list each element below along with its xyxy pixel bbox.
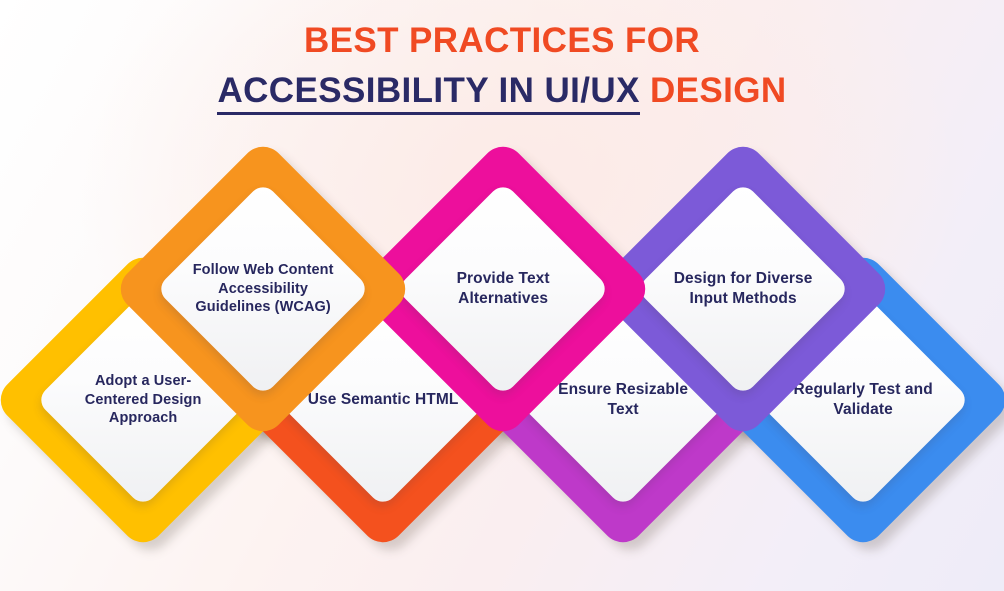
title-line-one: BEST PRACTICES FOR <box>0 22 1004 60</box>
diamond-1-adopt-a-user-centered-design-approach-label: Adopt a User-Centered Design Approach <box>67 372 219 428</box>
infographic-canvas: BEST PRACTICES FOR ACCESSIBILITY IN UI/U… <box>0 0 1004 591</box>
diamond-6-design-for-diverse-input-methods-label: Design for Diverse Input Methods <box>667 269 819 309</box>
diamond-4-provide-text-alternatives-label: Provide Text Alternatives <box>427 269 579 309</box>
title-space <box>640 71 650 110</box>
page-title: BEST PRACTICES FOR ACCESSIBILITY IN UI/U… <box>0 22 1004 110</box>
diamond-4-provide-text-alternatives-face: Provide Text Alternatives <box>396 182 611 397</box>
diamond-5-ensure-resizable-text-label: Ensure Resizable Text <box>547 380 699 420</box>
title-line-two: ACCESSIBILITY IN UI/UX DESIGN <box>0 72 1004 110</box>
title-plain-text: DESIGN <box>650 71 787 110</box>
diamond-3-use-semantic-html-label: Use Semantic HTML <box>307 390 459 410</box>
diamond-7-regularly-test-and-validate-label: Regularly Test and Validate <box>787 380 939 420</box>
title-accent-text: ACCESSIBILITY IN UI/UX <box>217 71 639 115</box>
diamond-2-follow-web-content-accessibility-guidelines-wcag-face: Follow Web Content Accessibility Guideli… <box>156 182 371 397</box>
diamond-6-design-for-diverse-input-methods-face: Design for Diverse Input Methods <box>636 182 851 397</box>
diamond-2-follow-web-content-accessibility-guidelines-wcag-label: Follow Web Content Accessibility Guideli… <box>187 261 339 317</box>
